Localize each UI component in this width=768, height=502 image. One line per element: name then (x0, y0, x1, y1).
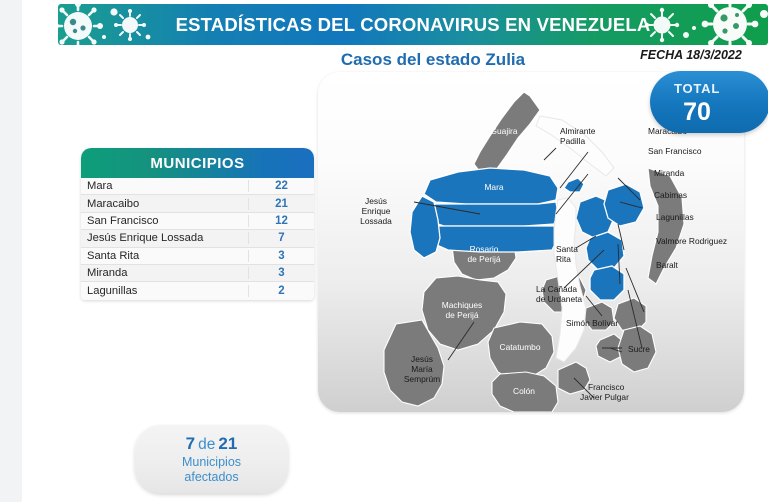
table-row: Lagunillas 2 (81, 282, 314, 299)
map-label-machiques-2: de Perijá (445, 310, 478, 320)
map-label-baralt: Baralt (656, 260, 679, 270)
map-label-enrique: Enrique (362, 206, 391, 216)
municipio-name: Jesús Enrique Lossada (81, 232, 248, 244)
map-label-san-francisco: San Francisco (648, 146, 702, 156)
map-label-mara: Mara (484, 182, 503, 192)
affected-municipios-badge: 7de21 Municipios afectados (135, 425, 288, 493)
map-label-simon-bolivar: Simón Bolívar (566, 318, 618, 328)
map-label-catatumbo: Catatumbo (500, 342, 541, 352)
municipio-name: Maracaibo (81, 198, 248, 210)
municipio-count: 12 (248, 215, 314, 227)
map-label-de-urdaneta: de Urdaneta (536, 294, 582, 304)
municipio-count: 3 (248, 250, 314, 262)
municipio-name: Santa Rita (81, 250, 248, 262)
map-label-guajira: Guajira (491, 126, 518, 136)
map-label-maria: María (411, 364, 433, 374)
map-label-colon: Colón (513, 386, 535, 396)
affected-line-3: afectados (184, 470, 238, 485)
total-label: TOTAL (650, 81, 744, 96)
map-label-padilla: Padilla (560, 136, 585, 146)
table-row: Santa Rita 3 (81, 248, 314, 265)
table-row: Miranda 3 (81, 265, 314, 282)
map-label-rosario-2: de Perijá (467, 254, 500, 264)
map-label-miranda: Miranda (654, 168, 685, 178)
map-label-cabimas: Cabimas (654, 190, 687, 200)
affected-count: 7 (186, 434, 195, 453)
municipio-name: Lagunillas (81, 285, 248, 297)
table-row: San Francisco 12 (81, 213, 314, 230)
map-label-jesus-maria: Jesús (411, 354, 433, 364)
map-label-semprum: Semprúm (404, 374, 440, 384)
map-label-almirante: Almirante (560, 126, 596, 136)
table-row: Maracaibo 21 (81, 195, 314, 212)
map-label-rita: Rita (556, 254, 571, 264)
municipios-table-header: MUNICIPIOS (81, 148, 314, 178)
total-badge-content: TOTAL 70 (650, 71, 744, 133)
header-title: ESTADÍSTICAS DEL CORONAVIRUS EN VENEZUEL… (58, 4, 768, 45)
subtitle-line-1: Casos del estado Zulia (308, 48, 558, 72)
municipio-count: 7 (248, 232, 314, 244)
map-label-lagunillas: Lagunillas (656, 212, 694, 222)
affected-connector: de (198, 436, 215, 453)
municipios-table-body: Mara 22 Maracaibo 21 San Francisco 12 Je… (81, 178, 314, 300)
municipio-count: 2 (248, 285, 314, 297)
map-label-machiques: Machiques (442, 300, 483, 310)
map-label-rosario: Rosario (470, 244, 499, 254)
municipio-count: 21 (248, 198, 314, 210)
map-label-francisco: Francisco (588, 382, 625, 392)
map-label-lossada: Lossada (360, 216, 392, 226)
municipio-count: 3 (248, 267, 314, 279)
table-row: Jesús Enrique Lossada 7 (81, 230, 314, 247)
map-label-valmore-rodriguez: Valmore Rodriguez (656, 236, 727, 246)
map-label-la-canada: La Cañada (536, 284, 577, 294)
municipio-name: Mara (81, 180, 248, 192)
map-label-sucre: Sucre (628, 344, 650, 354)
map-label-javier-pulgar: Javier Pulgar (580, 392, 629, 402)
municipio-name: San Francisco (81, 215, 248, 227)
municipio-count: 22 (248, 180, 314, 192)
total-value: 70 (650, 98, 744, 127)
header-banner: ESTADÍSTICAS DEL CORONAVIRUS EN VENEZUEL… (58, 4, 768, 45)
affected-ratio: 7de21 (186, 434, 238, 454)
map-label-jesus: Jesús (365, 196, 387, 206)
map-label-santa: Santa (556, 244, 578, 254)
affected-line-2: Municipios (182, 455, 241, 470)
municipios-table: MUNICIPIOS Mara 22 Maracaibo 21 San Fran… (81, 148, 314, 300)
affected-total: 21 (218, 434, 237, 453)
municipio-name: Miranda (81, 267, 248, 279)
fecha-label: FECHA 18/3/2022 (626, 48, 756, 62)
table-row: Mara 22 (81, 178, 314, 195)
page-canvas: ESTADÍSTICAS DEL CORONAVIRUS EN VENEZUEL… (22, 0, 768, 502)
